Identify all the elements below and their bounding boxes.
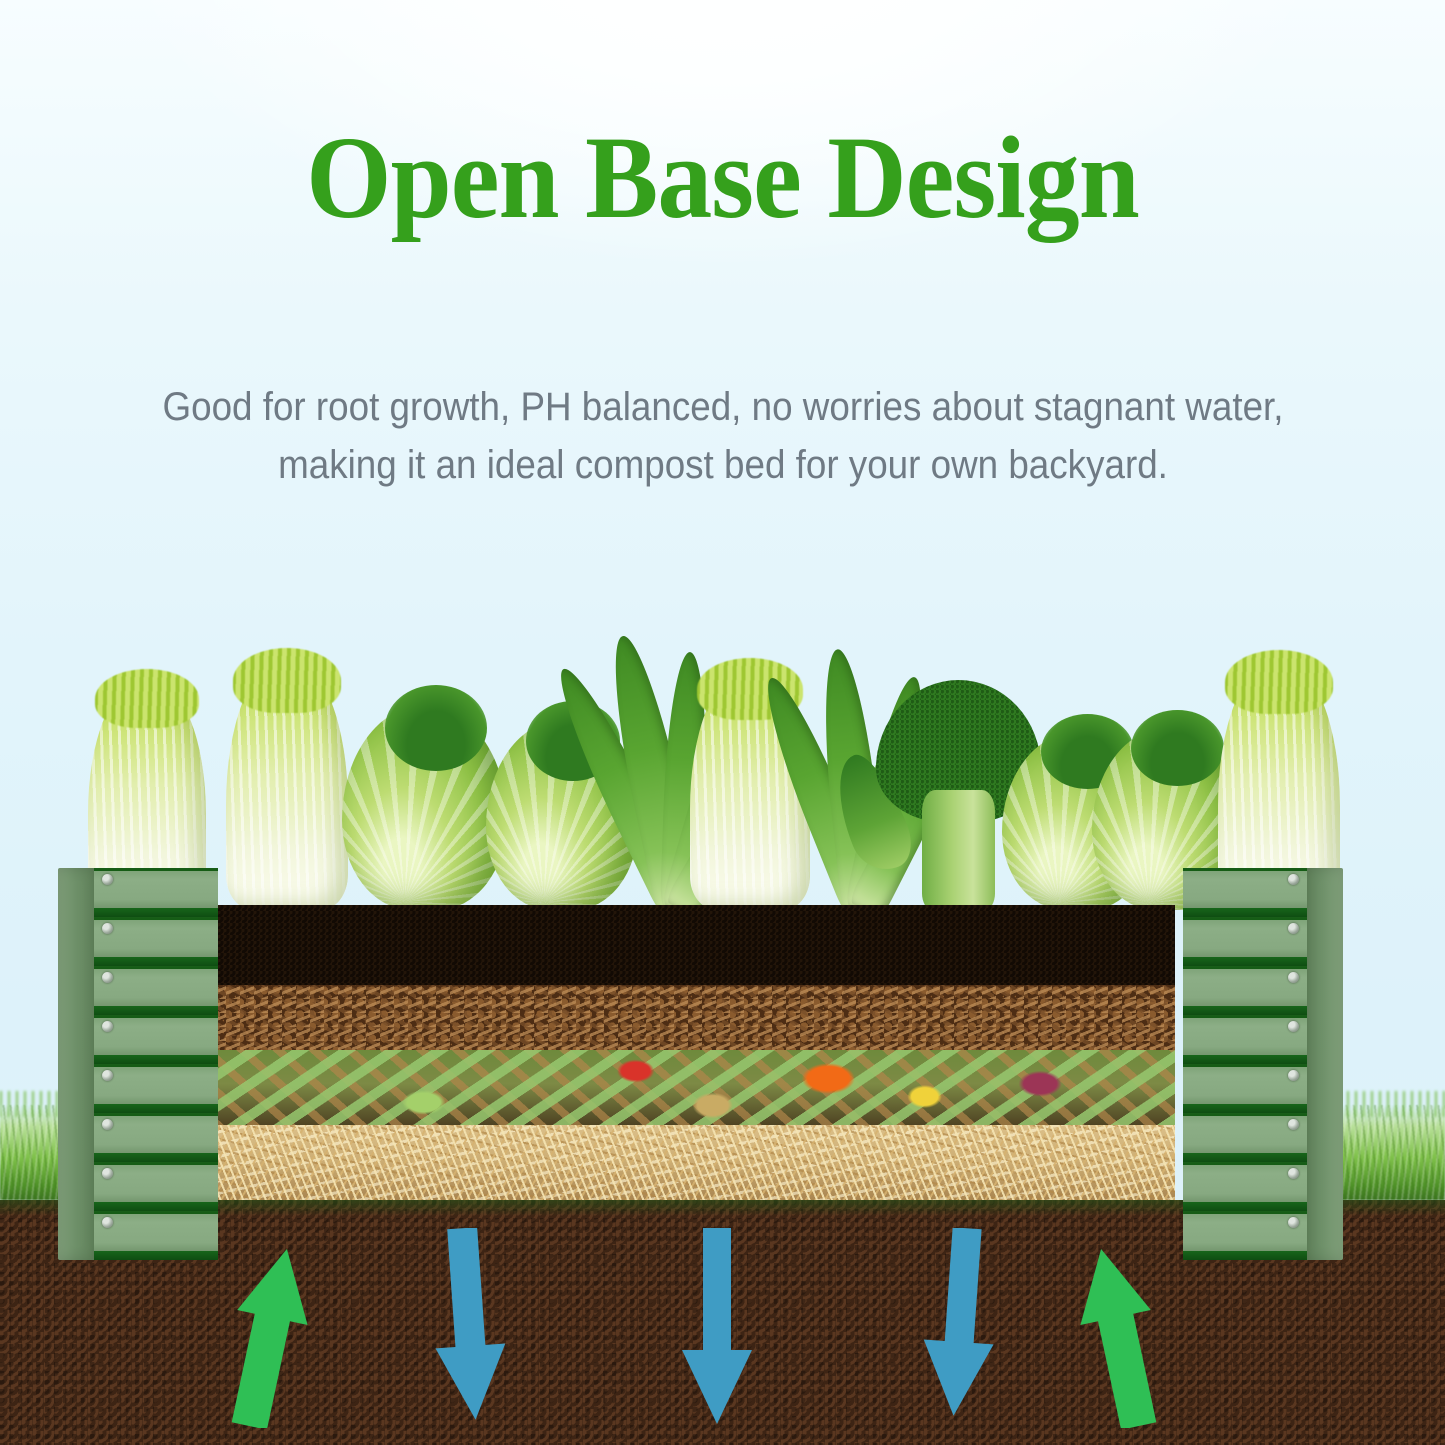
raised-bed-cross-section xyxy=(212,905,1175,1200)
plant-napa-cabbage xyxy=(226,660,348,910)
plant-green-cabbage xyxy=(342,705,507,910)
post-slat xyxy=(1183,1162,1307,1211)
screw-icon xyxy=(1288,1119,1299,1130)
screw-icon xyxy=(102,1168,113,1179)
arrow-drain-2 xyxy=(678,1228,756,1428)
post-slat-face xyxy=(94,868,218,1260)
screw-icon xyxy=(1288,1070,1299,1081)
post-slat-face xyxy=(1183,868,1307,1260)
layer-straw xyxy=(212,1125,1175,1200)
screw-icon xyxy=(102,1021,113,1032)
planter-corner-post-left xyxy=(58,868,218,1260)
screw-icon xyxy=(102,972,113,983)
post-slat xyxy=(1183,1113,1307,1162)
post-slat xyxy=(94,1015,218,1064)
screw-icon xyxy=(1288,1021,1299,1032)
planter-corner-post-right xyxy=(1183,868,1343,1260)
vegetable-row xyxy=(0,600,1445,910)
post-slat xyxy=(94,966,218,1015)
post-slat xyxy=(1183,917,1307,966)
layer-mulch xyxy=(212,985,1175,1050)
post-side-panel xyxy=(58,868,96,1260)
post-slat xyxy=(1183,966,1307,1015)
post-slat xyxy=(94,1113,218,1162)
post-slat xyxy=(94,917,218,966)
post-slat xyxy=(1183,1015,1307,1064)
post-side-panel xyxy=(1305,868,1343,1260)
arrow-air-in-left xyxy=(228,1243,308,1428)
layer-food-scraps xyxy=(212,1050,1175,1125)
screw-icon xyxy=(1288,1168,1299,1179)
post-slat xyxy=(1183,868,1307,917)
layer-topsoil xyxy=(212,905,1175,985)
arrow-drain-1 xyxy=(430,1228,508,1424)
broccoli-stalk xyxy=(922,790,995,910)
post-slat xyxy=(94,868,218,917)
post-slat xyxy=(94,1064,218,1113)
arrow-air-in-right xyxy=(1080,1243,1160,1428)
page-subtitle: Good for root growth, PH balanced, no wo… xyxy=(106,378,1339,494)
screw-icon xyxy=(102,1119,113,1130)
arrow-drain-3 xyxy=(920,1228,998,1418)
screw-icon xyxy=(102,1070,113,1081)
post-slat xyxy=(1183,1064,1307,1113)
post-slat xyxy=(1183,1211,1307,1260)
screw-icon xyxy=(1288,972,1299,983)
screw-icon xyxy=(1288,923,1299,934)
post-slat xyxy=(94,1211,218,1260)
screw-icon xyxy=(102,874,113,885)
post-slat xyxy=(94,1162,218,1211)
screw-icon xyxy=(1288,1217,1299,1228)
screw-icon xyxy=(102,923,113,934)
screw-icon xyxy=(1288,874,1299,885)
screw-icon xyxy=(102,1217,113,1228)
page-title: Open Base Design xyxy=(51,118,1395,238)
